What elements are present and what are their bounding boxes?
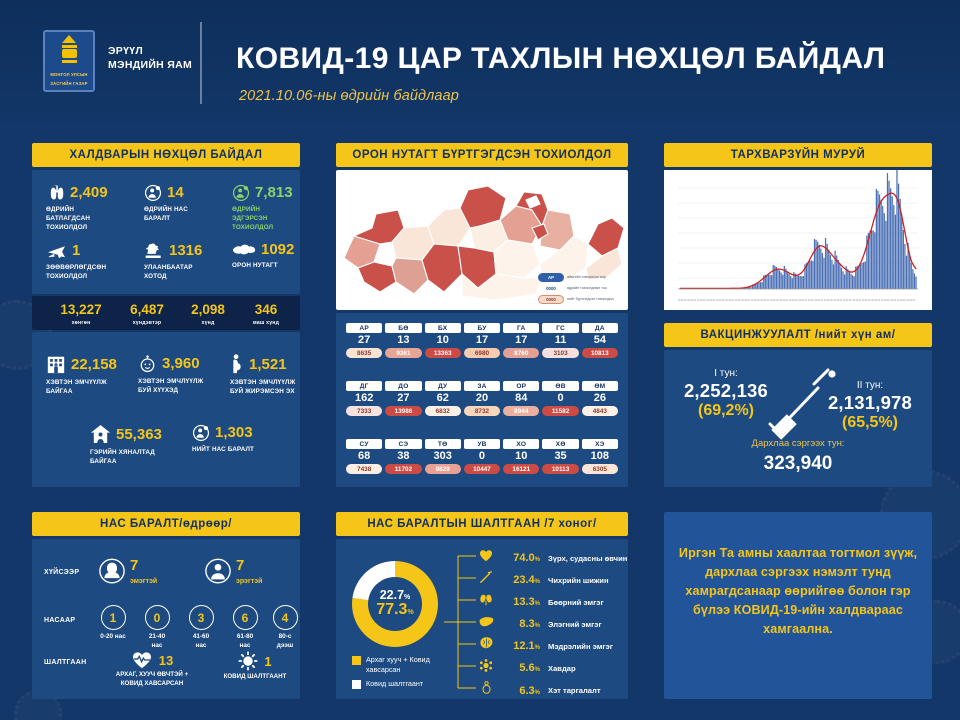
infection-panel-body: 2,409 ӨДРИЙН БАТЛАГДСАН ТОХИОЛДОЛ 14 ӨДР… [32, 170, 300, 294]
virus-icon [238, 651, 258, 671]
donut-legend-covid: Ковид шалтгаант [352, 679, 423, 689]
stat-hospitalized: 22,158 ХЭВТЭН ЭМЧҮҮЛЖ БАЙГАА [46, 354, 117, 396]
age-41-60-value: 3 [189, 605, 214, 630]
region-new-cases: 17 [503, 333, 539, 348]
dose2-value: 2,131,978 [814, 391, 926, 414]
cause-row-liver: 8.3% Элэгний эмгэг [476, 615, 602, 633]
stat-daily-deaths: 14 ӨДРИЙН НАС БАРАЛТ [144, 184, 188, 223]
cause-kidney-pct: 13.3% [496, 596, 540, 608]
transported-label: ЗӨӨВӨРЛӨГДСӨН ТОХИОЛДОЛ [46, 263, 106, 281]
map-panel-body: АР аймгийн товчилсон нэр 0000 өдрийн тох… [336, 170, 628, 310]
provinces-label: ОРОН НУТАГТ [232, 261, 294, 270]
map-panel-title: ОРОН НУТАГТ БҮРТГЭГДСЭН ТОХИОЛДОЛ [336, 143, 628, 167]
region-code: СЭ [385, 439, 421, 449]
region-code: ОР [503, 381, 539, 391]
deaths-male-label: эрэгтэй [236, 578, 262, 585]
deaths-daily-body: ХҮЙСЭЭР НАСААР ШАЛТГААН 7 эмэгтэй 7 эрэг… [32, 539, 300, 699]
legend-text-daily: өдрийн тохиолдлын тоо [567, 286, 607, 290]
person-recovered-icon [232, 184, 250, 201]
map-legend: АР аймгийн товчилсон нэр 0000 өдрийн тох… [538, 273, 624, 306]
region-code: ӨМ [582, 381, 618, 391]
cause-heart-name: Зүрх, судасны өвчин [548, 554, 627, 563]
cause-heart-pct: 74.0% [496, 552, 540, 564]
daily-deaths-label: ӨДРИЙН НАС БАРАЛТ [144, 205, 188, 223]
deaths-daily-title: НАС БАРАЛТ/өдрөөр/ [32, 512, 300, 536]
severity-moderate-value: 6,487 [116, 303, 178, 317]
stat-daily-confirmed: 2,409 ӨДРИЙН БАТЛАГДСАН ТОХИОЛДОЛ [46, 184, 108, 232]
region-code: УВ [464, 439, 500, 449]
region-total-cases: 13986 [385, 406, 421, 416]
region-new-cases: 0 [464, 449, 500, 464]
region-table-row: СУ687438СЭ3811702ТӨ3039829УВ010447ХО1016… [346, 439, 618, 474]
cause-row-cancer: 5.6% Хавдар [476, 659, 576, 677]
stat-home-monitoring: 55,363 ГЭРИЙН ХЯНАЛТАД БАЙГАА [90, 424, 162, 466]
region-new-cases: 303 [425, 449, 461, 464]
region-total-cases: 6980 [464, 348, 500, 358]
map-legend-item: 0000 өдрийн тохиолдлын тоо [538, 284, 624, 293]
logo-caption-line2: ЗАСГИЙН ГАЗАР [50, 81, 87, 87]
legend-label-covid: Ковид шалтгаант [366, 679, 423, 689]
total-deaths-value: 1,303 [215, 425, 253, 440]
stat-children: 3,960 ХЭВТЭН ЭМЧЛҮҮЛЖ БУЙ ХҮҮХЭД [138, 354, 203, 395]
severity-severe-value: 2,098 [180, 303, 236, 317]
region-cell-ДА[interactable]: ДА5410813 [582, 323, 618, 358]
region-code: БУ [464, 323, 500, 333]
row-label-sex: ХҮЙСЭЭР [44, 569, 79, 576]
region-total-cases: 8635 [346, 348, 382, 358]
age-61-80-value: 6 [233, 605, 258, 630]
region-new-cases: 20 [464, 391, 500, 406]
epidemic-curve-chart: ||||||||||||||||||||||||||||||||||||||||… [664, 170, 932, 310]
region-code: ЗА [464, 381, 500, 391]
daily-confirmed-value: 2,409 [70, 185, 108, 200]
region-code: ГС [542, 323, 578, 333]
page-date-subtitle: 2021.10.06-ны өдрийн байдлаар [239, 88, 459, 104]
logo-caption-line1: МОНГОЛ УЛСЫН [50, 72, 87, 78]
brain-icon [476, 637, 496, 655]
death-causes-title: НАС БАРАЛТЫН ШАЛТГААН /7 хоног/ [336, 512, 628, 536]
severity-strip: 13,227 хөнгөн 6,487 хүндэвтэр 2,098 хүнд… [32, 296, 300, 330]
legend-text-total: нийт бүртгэгдсэн тохиолдол [567, 297, 614, 301]
deaths-female: 7 эмэгтэй [98, 557, 157, 585]
region-code: БХ [425, 323, 461, 333]
age-0-20-label: 0-20 нас [92, 633, 134, 642]
deaths-female-label: эмэгтэй [130, 578, 157, 585]
region-new-cases: 35 [542, 449, 578, 464]
epi-curve-body: ||||||||||||||||||||||||||||||||||||||||… [664, 170, 932, 310]
hospitalized-label: ХЭВТЭН ЭМЧҮҮЛЖ БАЙГАА [46, 378, 117, 396]
region-new-cases: 162 [346, 391, 382, 406]
vaccination-dose1: I тун: 2,252,136 (69,2%) [670, 368, 782, 421]
severity-severe-label: хүнд [180, 320, 236, 326]
region-new-cases: 108 [582, 449, 618, 464]
hospitalized-value: 22,158 [71, 357, 117, 372]
stat-total-deaths: 1,303 НИЙТ НАС БАРАЛТ [192, 424, 254, 454]
stat-daily-recovered: 7,813 ӨДРИЙН ЭДГЭРСЭН ТОХИОЛДОЛ [232, 184, 293, 232]
dose1-percent: (69,2%) [670, 402, 782, 420]
hospital-icon [46, 354, 66, 374]
age-0-20-value: 1 [101, 605, 126, 630]
stat-pregnant: 1,521 ХЭВТЭН ЭМЧЛҮҮЛЖ БУЙ ЖИРЭМСЭН ЭХ [230, 354, 295, 396]
map-legend-item: АР аймгийн товчилсон нэр [538, 273, 624, 282]
booster-label: Дархлаа сэргээх тун: [664, 438, 932, 449]
region-cell-УВ[interactable]: УВ010447 [464, 439, 500, 474]
region-new-cases: 26 [582, 391, 618, 406]
cause-liver-pct: 8.3% [496, 618, 540, 630]
deaths-female-value: 7 [130, 557, 138, 574]
region-code: ХО [503, 439, 539, 449]
region-cell-ДО[interactable]: ДО2713986 [385, 381, 421, 416]
region-total-cases: 9829 [425, 464, 461, 474]
baby-icon [138, 354, 157, 373]
care-stats-panel: 22,158 ХЭВТЭН ЭМЧҮҮЛЖ БАЙГАА 3,960 ХЭВТЭ… [32, 332, 300, 487]
region-cell-ӨВ[interactable]: ӨВ011582 [542, 381, 578, 416]
region-total-cases: 4843 [582, 406, 618, 416]
map-region [358, 262, 396, 292]
death-causes-body: 22.7% 77.3% Архаг хууч + Ковид хавсарсан… [336, 539, 628, 699]
vaccination-dose2: II тун: 2,131,978 (65,5%) [814, 380, 926, 433]
region-cell-ОР[interactable]: ОР848944 [503, 381, 539, 416]
page-title: КОВИД-19 ЦАР ТАХЛЫН НӨХЦӨЛ БАЙДАЛ [236, 42, 885, 76]
region-total-cases: 6305 [582, 464, 618, 474]
liver-icon [476, 615, 496, 633]
region-new-cases: 84 [503, 391, 539, 406]
severity-mild-value: 13,227 [50, 303, 112, 317]
map-icon [232, 243, 256, 257]
region-cell-ХО[interactable]: ХО1016121 [503, 439, 539, 474]
region-code: АР [346, 323, 382, 333]
death-causes-donut-chart: 22.7% 77.3% [352, 561, 438, 647]
deaths-cause-comorbid: 13 АРХАГ, ХУУЧ ӨВЧТЭЙ + КОВИД ХАВСАРСАН [92, 651, 212, 688]
region-total-cases: 8760 [503, 348, 539, 358]
stat-transported: 1 ЗӨӨВӨРЛӨГДСӨН ТОХИОЛДОЛ [46, 242, 106, 281]
region-new-cases: 17 [464, 333, 500, 348]
cause-obesity-pct: 6.3% [496, 685, 540, 697]
dose2-label: II тун: [814, 380, 926, 391]
region-total-cases: 7438 [346, 464, 382, 474]
cause-row-heart: 74.0% Зүрх, судасны өвчин [476, 549, 627, 567]
region-table-row: ДГ1627333ДО2713986ДУ626832ЗА208732ОР8489… [346, 381, 618, 416]
region-cell-ӨМ[interactable]: ӨМ264843 [582, 381, 618, 416]
cause-cancer-name: Хавдар [548, 664, 576, 673]
severity-severe: 2,098 хүнд [180, 303, 236, 326]
severity-moderate: 6,487 хүндэвтэр [116, 303, 178, 326]
cancer-cell-icon [476, 659, 496, 677]
vaccination-panel-body: I тун: 2,252,136 (69,2%) II тун: 2,131,9… [664, 350, 932, 487]
cause-comorbid-label: АРХАГ, ХУУЧ ӨВЧТЭЙ + КОВИД ХАВСАРСАН [92, 671, 212, 688]
region-cell-ГС[interactable]: ГС113103 [542, 323, 578, 358]
deaths-male-value: 7 [236, 557, 244, 574]
row-label-cause: ШАЛТГААН [44, 659, 86, 666]
children-label: ХЭВТЭН ЭМЧЛҮҮЛЖ БУЙ ХҮҮХЭД [138, 377, 203, 395]
region-cell-ТӨ[interactable]: ТӨ3039829 [425, 439, 461, 474]
epi-curve-title: ТАРХВАРЗҮЙН МУРУЙ [664, 143, 932, 167]
pregnant-icon [230, 354, 244, 374]
cause-obesity-name: Хэт таргалалт [548, 686, 601, 695]
deaths-male: 7 эрэгтэй [204, 557, 262, 585]
horse-statue-icon [144, 242, 164, 259]
region-total-cases: 10813 [582, 348, 618, 358]
severity-critical-value: 346 [238, 303, 294, 317]
legend-chip-daily: 0000 [538, 284, 564, 293]
region-code: СУ [346, 439, 382, 449]
region-cell-ХЭ[interactable]: ХЭ1086305 [582, 439, 618, 474]
obesity-icon [476, 681, 496, 700]
region-total-cases: 8944 [503, 406, 539, 416]
region-new-cases: 11 [542, 333, 578, 348]
region-cell-БХ[interactable]: БХ1013363 [425, 323, 461, 358]
lungs-icon [46, 184, 65, 201]
cause-covid-label: КОВИД ШАЛТГААНТ [214, 673, 296, 682]
ulaanbaatar-label: УЛААНБААТАР ХОТОД [144, 263, 202, 281]
region-new-cases: 38 [385, 449, 421, 464]
cause-cancer-pct: 5.6% [496, 662, 540, 674]
airplane-icon [46, 242, 67, 259]
svg-text:|||: ||| [912, 299, 916, 301]
transported-value: 1 [72, 243, 80, 258]
map-region [494, 240, 540, 278]
severity-mild: 13,227 хөнгөн [50, 303, 112, 326]
legend-chip-total: 0000 [538, 295, 564, 304]
region-code: ДГ [346, 381, 382, 391]
region-code: ДА [582, 323, 618, 333]
syringe-pen-icon [476, 571, 496, 589]
home-icon [90, 424, 111, 444]
region-total-cases: 10113 [542, 464, 578, 474]
region-cell-СУ[interactable]: СУ687438 [346, 439, 382, 474]
region-total-cases: 3103 [542, 348, 578, 358]
age-21-40-label: 21-40 нас [136, 633, 178, 650]
region-code: БӨ [385, 323, 421, 333]
region-total-cases: 9361 [385, 348, 421, 358]
cause-comorbid-value: 13 [159, 653, 173, 668]
severity-critical-label: маш хүнд [238, 320, 294, 326]
region-cell-БӨ[interactable]: БӨ139361 [385, 323, 421, 358]
region-cell-СЭ[interactable]: СЭ3811702 [385, 439, 421, 474]
daily-recovered-value: 7,813 [255, 185, 293, 200]
cause-row-kidney: 13.3% Бөөрний эмгэг [476, 593, 604, 611]
region-code: ТӨ [425, 439, 461, 449]
donut-covid-pct: 22.7% [380, 589, 411, 602]
stat-provinces: 1092 ОРОН НУТАГТ [232, 242, 294, 270]
cause-diabetes-name: Чихрийн шижин [548, 576, 609, 585]
cause-liver-name: Элэгний эмгэг [548, 620, 602, 629]
female-icon [98, 558, 126, 585]
region-code: ГА [503, 323, 539, 333]
region-cell-АР[interactable]: АР278635 [346, 323, 382, 358]
donut-center-labels: 22.7% 77.3% [368, 577, 422, 631]
legend-label-comorbid: Архаг хууч + Ковид хавсарсан [366, 655, 430, 676]
cause-covid-value: 1 [264, 654, 271, 669]
provinces-value: 1092 [261, 242, 294, 257]
vaccination-panel-title: ВАКЦИНЖУУЛАЛТ /нийт хүн ам/ [664, 323, 932, 347]
ministry-name-line2: МЭНДИЙН ЯАМ [108, 58, 192, 72]
region-total-cases: 11582 [542, 406, 578, 416]
ministry-name: ЭРҮҮЛ МЭНДИЙН ЯАМ [108, 44, 192, 72]
severity-mild-label: хөнгөн [50, 320, 112, 326]
region-new-cases: 27 [385, 391, 421, 406]
cause-neuro-pct: 12.1% [496, 640, 540, 652]
legend-swatch-comorbid [352, 656, 361, 665]
pregnant-value: 1,521 [249, 357, 287, 372]
deaths-age-61-80: 6 61-80 нас [224, 605, 266, 650]
legend-chip-code: АР [538, 273, 564, 282]
person-death-icon [192, 424, 210, 441]
soyombo-icon [61, 35, 78, 69]
deaths-age-0-20: 1 0-20 нас [92, 605, 134, 642]
age-80-plus-label: 80-с дээш [264, 633, 306, 650]
region-cell-ГА[interactable]: ГА178760 [503, 323, 539, 358]
region-code: ДУ [425, 381, 461, 391]
dose1-value: 2,252,136 [670, 379, 782, 402]
public-message-panel: Иргэн Та амны хаалтаа тогтмол зүүж, дарх… [664, 512, 932, 699]
deaths-age-41-60: 3 41-60 нас [180, 605, 222, 650]
region-total-cases: 16121 [503, 464, 539, 474]
region-new-cases: 54 [582, 333, 618, 348]
region-cell-ДГ[interactable]: ДГ1627333 [346, 381, 382, 416]
donut-comorbid-pct: 77.3% [376, 601, 413, 619]
home-monitoring-label: ГЭРИЙН ХЯНАЛТАД БАЙГАА [90, 448, 162, 466]
male-icon [204, 558, 232, 585]
daily-confirmed-label: ӨДРИЙН БАТЛАГДСАН ТОХИОЛДОЛ [46, 205, 108, 232]
pregnant-label: ХЭВТЭН ЭМЧЛҮҮЛЖ БУЙ ЖИРЭМСЭН ЭХ [230, 378, 295, 396]
age-21-40-value: 0 [145, 605, 170, 630]
legend-text-code: аймгийн товчилсон нэр [567, 275, 606, 279]
booster-value: 323,940 [664, 453, 932, 475]
region-new-cases: 0 [542, 391, 578, 406]
home-monitoring-value: 55,363 [116, 427, 162, 442]
region-total-cases: 8732 [464, 406, 500, 416]
region-new-cases: 10 [503, 449, 539, 464]
total-deaths-label: НИЙТ НАС БАРАЛТ [192, 445, 254, 454]
map-legend-item: 0000 нийт бүртгэгдсэн тохиолдол [538, 295, 624, 304]
age-61-80-label: 61-80 нас [224, 633, 266, 650]
deaths-age-80-plus: 4 80-с дээш [264, 605, 306, 650]
kidney-icon [476, 593, 496, 611]
dose2-percent: (65,5%) [814, 414, 926, 432]
region-code: ДО [385, 381, 421, 391]
deaths-cause-covid: 1 КОВИД ШАЛТГААНТ [214, 651, 296, 682]
heartbeat-icon [131, 651, 153, 669]
region-new-cases: 68 [346, 449, 382, 464]
region-total-cases: 6832 [425, 406, 461, 416]
region-new-cases: 13 [385, 333, 421, 348]
donut-legend-comorbid: Архаг хууч + Ковид хавсарсан [352, 655, 430, 676]
region-code: ХӨ [542, 439, 578, 449]
heart-icon [476, 549, 496, 567]
severity-moderate-label: хүндэвтэр [116, 320, 178, 326]
cause-neuro-name: Мэдрэлийн эмгэг [548, 642, 613, 651]
age-41-60-label: 41-60 нас [180, 633, 222, 650]
region-code: ХЭ [582, 439, 618, 449]
region-total-cases: 7333 [346, 406, 382, 416]
region-new-cases: 62 [425, 391, 461, 406]
person-death-icon [144, 184, 162, 201]
region-table-panel: АР278635БӨ139361БХ1013363БУ176980ГА17876… [336, 313, 628, 487]
daily-recovered-label: ӨДРИЙН ЭДГЭРСЭН ТОХИОЛДОЛ [232, 205, 293, 232]
ministry-name-line1: ЭРҮҮЛ [108, 44, 192, 58]
cause-row-obesity: 6.3% Хэт таргалалт [476, 681, 601, 700]
legend-swatch-covid [352, 680, 361, 689]
region-table-row: АР278635БӨ139361БХ1013363БУ176980ГА17876… [346, 323, 618, 358]
dose1-label: I тун: [670, 368, 782, 379]
region-code: ӨВ [542, 381, 578, 391]
cause-row-diabetes: 23.4% Чихрийн шижин [476, 571, 609, 589]
age-80-plus-value: 4 [273, 605, 298, 630]
cause-kidney-name: Бөөрний эмгэг [548, 598, 604, 607]
page-header: МОНГОЛ УЛСЫН ЗАСГИЙН ГАЗАР ЭРҮҮЛ МЭНДИЙН… [0, 0, 960, 130]
header-divider [200, 22, 202, 104]
deaths-age-21-40: 0 21-40 нас [136, 605, 178, 650]
cause-diabetes-pct: 23.4% [496, 574, 540, 586]
region-new-cases: 10 [425, 333, 461, 348]
region-total-cases: 10447 [464, 464, 500, 474]
infection-panel-title: ХАЛДВАРЫН НӨХЦӨЛ БАЙДАЛ [32, 143, 300, 167]
map-region [422, 244, 462, 292]
region-cell-ЗА[interactable]: ЗА208732 [464, 381, 500, 416]
row-label-age: НАСААР [44, 617, 75, 624]
stat-ulaanbaatar: 1316 УЛААНБААТАР ХОТОД [144, 242, 202, 281]
cause-row-neuro: 12.1% Мэдрэлийн эмгэг [476, 637, 613, 655]
daily-deaths-value: 14 [167, 185, 184, 200]
severity-critical: 346 маш хүнд [238, 303, 294, 326]
children-value: 3,960 [162, 356, 200, 371]
region-cell-ДУ[interactable]: ДУ626832 [425, 381, 461, 416]
public-message-text: Иргэн Та амны хаалтаа тогтмол зүүж, дарх… [674, 544, 922, 638]
ulaanbaatar-value: 1316 [169, 243, 202, 258]
region-new-cases: 27 [346, 333, 382, 348]
government-emblem-logo: МОНГОЛ УЛСЫН ЗАСГИЙН ГАЗАР [43, 30, 95, 92]
region-cell-ХӨ[interactable]: ХӨ3510113 [542, 439, 578, 474]
region-cell-БУ[interactable]: БУ176980 [464, 323, 500, 358]
region-total-cases: 13363 [425, 348, 461, 358]
region-total-cases: 11702 [385, 464, 421, 474]
